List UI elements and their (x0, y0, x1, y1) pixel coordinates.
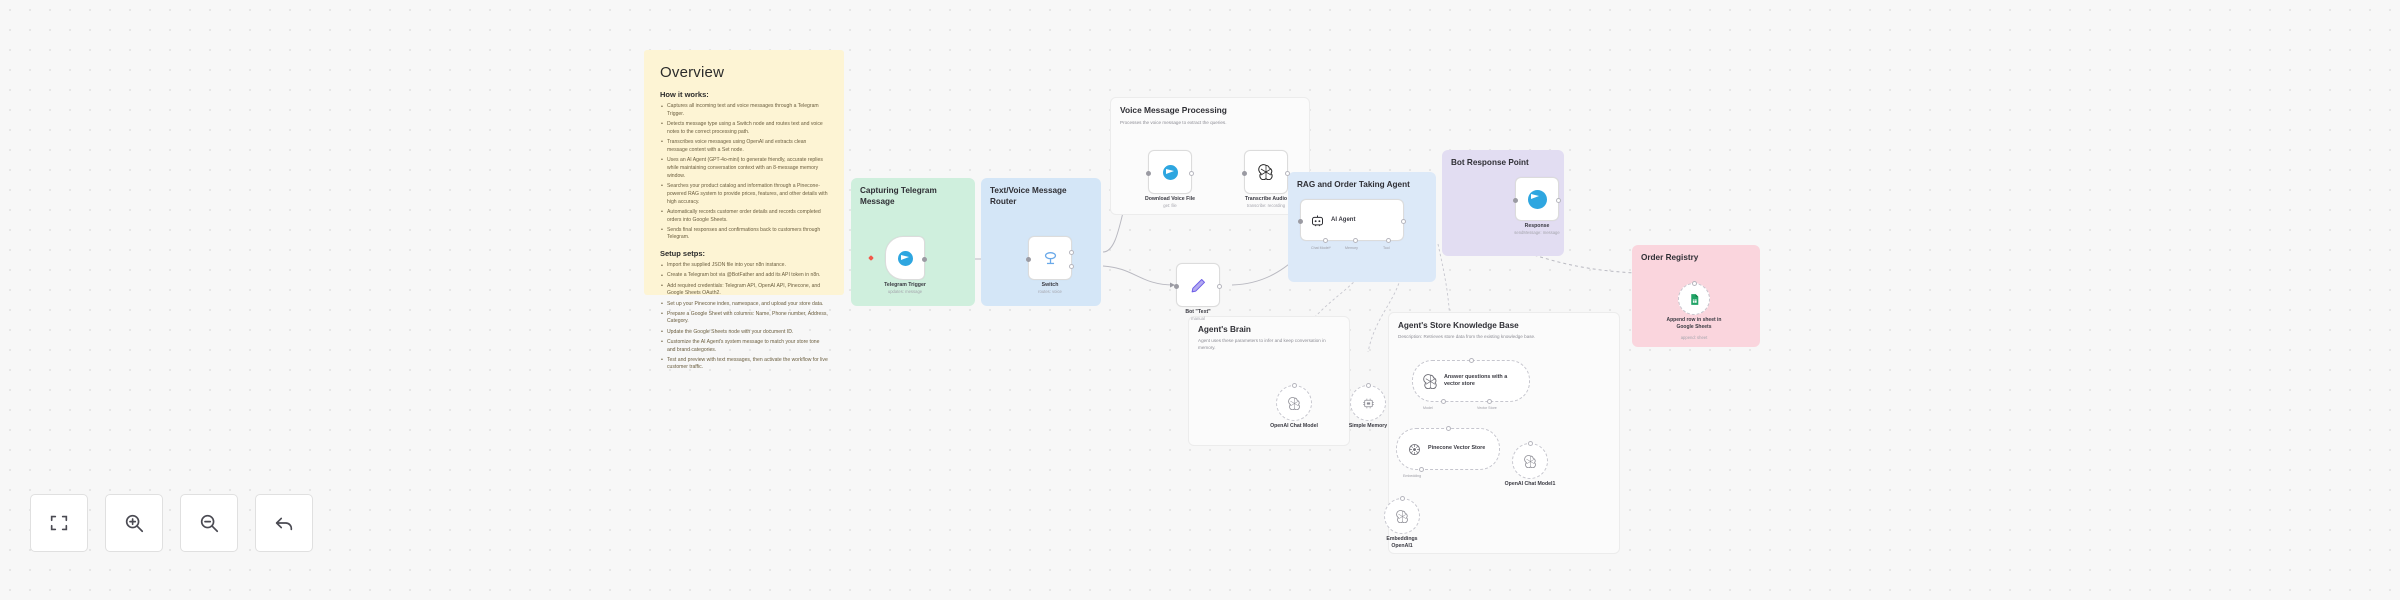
subnode-openai-chat-model1[interactable]: OpenAI Chat Model1 (1512, 443, 1548, 479)
setup-steps-heading: Setup setps: (660, 249, 828, 258)
openai-icon (1423, 374, 1438, 389)
group-title: Agent's Store Knowledge Base (1398, 320, 1612, 331)
memory-port-label: Memory (1345, 246, 1358, 250)
subnode-embeddings-openai1[interactable]: Embeddings OpenAI1 (1384, 498, 1420, 534)
node-label: Append row in sheet in Google Sheets (1661, 317, 1727, 331)
output-port[interactable] (922, 257, 927, 262)
telegram-icon (1528, 190, 1547, 209)
sticky-note-title: Overview (660, 64, 828, 81)
switch-icon (1042, 250, 1059, 267)
connect-port[interactable] (1292, 383, 1297, 388)
subnode-label: OpenAI Chat Model (1270, 423, 1318, 429)
model-port[interactable] (1441, 399, 1446, 404)
telegram-icon (898, 251, 913, 266)
connect-port[interactable] (1366, 383, 1371, 388)
how-it-works-item: Searches your product catalog and inform… (660, 183, 828, 207)
openai-icon (1258, 164, 1274, 180)
node-download-voice-file[interactable]: Download Voice File get: file (1148, 150, 1192, 194)
undo-icon (273, 512, 295, 534)
setup-step-item: Set up your Pinecone index, namespace, a… (660, 301, 828, 309)
zoom-out-button[interactable] (180, 494, 238, 552)
subnode-label: Simple Memory (1349, 423, 1387, 429)
chat-model-port-label: Chat Model* (1311, 246, 1331, 250)
node-sublabel: sendMessage: message (1514, 230, 1559, 235)
subnode-pinecone-vector-store[interactable]: Pinecone Vector Store Embedding (1396, 428, 1500, 470)
how-it-works-list: Captures all incoming text and voice mes… (660, 103, 828, 242)
openai-icon (1396, 510, 1409, 523)
node-response[interactable]: Response sendMessage: message (1515, 177, 1559, 221)
node-transcribe-audio[interactable]: Transcribe Audio transcribe: recording (1244, 150, 1288, 194)
setup-step-item: Customize the AI Agent's system message … (660, 339, 828, 355)
subnode-label: Answer questions with a vector store (1444, 374, 1519, 389)
output-port[interactable] (1217, 284, 1222, 289)
node-sublabel: append: sheet (1661, 335, 1727, 340)
group-title: Capturing Telegram Message (860, 185, 968, 207)
how-it-works-heading: How it works: (660, 90, 828, 99)
vector-store-port-label: Vector Store (1477, 406, 1497, 410)
node-append-row-google-sheets[interactable]: Append row in sheet in Google Sheets app… (1678, 283, 1710, 315)
zoom-out-icon (198, 512, 220, 534)
setup-step-item: Update the Google Sheets node with your … (660, 329, 828, 337)
workflow-canvas[interactable]: Overview How it works: Captures all inco… (0, 0, 2400, 600)
output-port[interactable] (1285, 171, 1290, 176)
connect-port[interactable] (1400, 496, 1405, 501)
model-port-label: Model (1423, 406, 1433, 410)
group-agents-brain[interactable]: Agent's Brain Agent uses these parameter… (1188, 316, 1350, 446)
subnode-label: OpenAI Chat Model1 (1505, 481, 1556, 487)
fit-view-button[interactable] (30, 494, 88, 552)
zoom-in-icon (123, 512, 145, 534)
memory-port[interactable] (1353, 238, 1358, 243)
input-port[interactable] (1692, 281, 1697, 286)
connect-port[interactable] (1528, 441, 1533, 446)
openai-icon (1288, 397, 1301, 410)
input-port[interactable] (1026, 257, 1031, 262)
zoom-in-button[interactable] (105, 494, 163, 552)
how-it-works-item: Transcribes voice messages using OpenAI … (660, 139, 828, 155)
setup-step-item: Test and preview with text messages, the… (660, 357, 828, 373)
subnode-label: Embeddings OpenAI1 (1377, 536, 1427, 551)
sticky-note-overview[interactable]: Overview How it works: Captures all inco… (644, 50, 844, 295)
how-it-works-item: Detects message type using a Switch node… (660, 121, 828, 137)
node-label: Telegram Trigger (884, 282, 926, 288)
output-port[interactable] (1401, 219, 1406, 224)
group-title: Text/Voice Message Router (990, 185, 1094, 207)
how-it-works-item: Captures all incoming text and voice mes… (660, 103, 828, 119)
reset-zoom-button[interactable] (255, 494, 313, 552)
how-it-works-item: Uses an AI Agent (GPT-4o-mini) to genera… (660, 157, 828, 181)
output-port-text[interactable] (1069, 264, 1074, 269)
input-port[interactable] (1242, 171, 1247, 176)
tool-port[interactable] (1386, 238, 1391, 243)
chat-model-port[interactable] (1323, 238, 1328, 243)
group-subtitle: Description: Retrieves store data from t… (1398, 334, 1612, 341)
memory-icon (1362, 397, 1375, 410)
input-port[interactable] (1146, 171, 1151, 176)
subnode-openai-chat-model[interactable]: OpenAI Chat Model (1276, 385, 1312, 421)
node-sublabel: routes: voice (1038, 289, 1062, 294)
input-port[interactable] (1513, 198, 1518, 203)
edit-icon (1190, 277, 1207, 294)
setup-steps-list: Import the supplied JSON file into your … (660, 262, 828, 372)
subnode-simple-memory[interactable]: Simple Memory (1350, 385, 1386, 421)
node-sublabel: updates: message (888, 289, 922, 294)
group-title: Agent's Brain (1198, 324, 1342, 335)
setup-step-item: Create a Telegram bot via @BotFather and… (660, 272, 828, 280)
node-sublabel: manual (1191, 316, 1205, 321)
node-sublabel: get: file (1163, 203, 1177, 208)
node-label: AI Agent (1331, 217, 1355, 223)
node-bot-text[interactable]: Bot "Text" manual (1176, 263, 1220, 307)
robot-icon (1310, 213, 1325, 228)
embedding-port[interactable] (1419, 467, 1424, 472)
node-label: Transcribe Audio (1245, 196, 1287, 202)
node-label: Response (1525, 223, 1550, 229)
group-title: Bot Response Point (1451, 157, 1557, 168)
node-ai-agent[interactable]: AI Agent Chat Model* Memory Tool (1300, 199, 1404, 241)
input-port[interactable] (1174, 284, 1179, 289)
connect-port[interactable] (1446, 426, 1451, 431)
connect-port[interactable] (1469, 358, 1474, 363)
node-switch[interactable]: Switch routes: voice (1028, 236, 1072, 280)
node-telegram-trigger[interactable]: Telegram Trigger updates: message (885, 236, 925, 280)
output-port[interactable] (1556, 198, 1561, 203)
embedding-port-label: Embedding (1403, 474, 1421, 478)
group-title: Order Registry (1641, 252, 1753, 263)
tool-port-label: Tool (1383, 246, 1390, 250)
node-label: Bot "Text" (1185, 309, 1210, 315)
output-port[interactable] (1189, 171, 1194, 176)
subnode-vector-store-tool[interactable]: Answer questions with a vector store Mod… (1412, 360, 1530, 402)
group-title: Voice Message Processing (1120, 105, 1302, 116)
pinecone-icon (1407, 442, 1422, 457)
setup-step-item: Import the supplied JSON file into your … (660, 262, 828, 270)
group-title: RAG and Order Taking Agent (1297, 179, 1429, 190)
node-label: Download Voice File (1145, 196, 1195, 202)
vector-store-port[interactable] (1487, 399, 1492, 404)
how-it-works-item: Automatically records customer order det… (660, 209, 828, 225)
input-port[interactable] (1298, 219, 1303, 224)
output-port-voice[interactable] (1069, 250, 1074, 255)
setup-step-item: Prepare a Google Sheet with columns: Nam… (660, 311, 828, 327)
node-label: Switch (1042, 282, 1059, 288)
telegram-icon (1163, 165, 1178, 180)
how-it-works-item: Sends final responses and confirmations … (660, 227, 828, 243)
canvas-toolbar[interactable] (30, 494, 313, 552)
subnode-label: Pinecone Vector Store (1428, 445, 1489, 452)
node-sublabel: transcribe: recording (1247, 203, 1285, 208)
openai-icon (1524, 455, 1537, 468)
setup-step-item: Add required credentials: Telegram API, … (660, 283, 828, 299)
google-sheets-icon (1688, 293, 1701, 306)
group-subtitle: Processes the voice message to extract t… (1120, 120, 1302, 127)
fit-view-icon (48, 512, 70, 534)
group-subtitle: Agent uses these parameters to infer and… (1198, 338, 1342, 352)
